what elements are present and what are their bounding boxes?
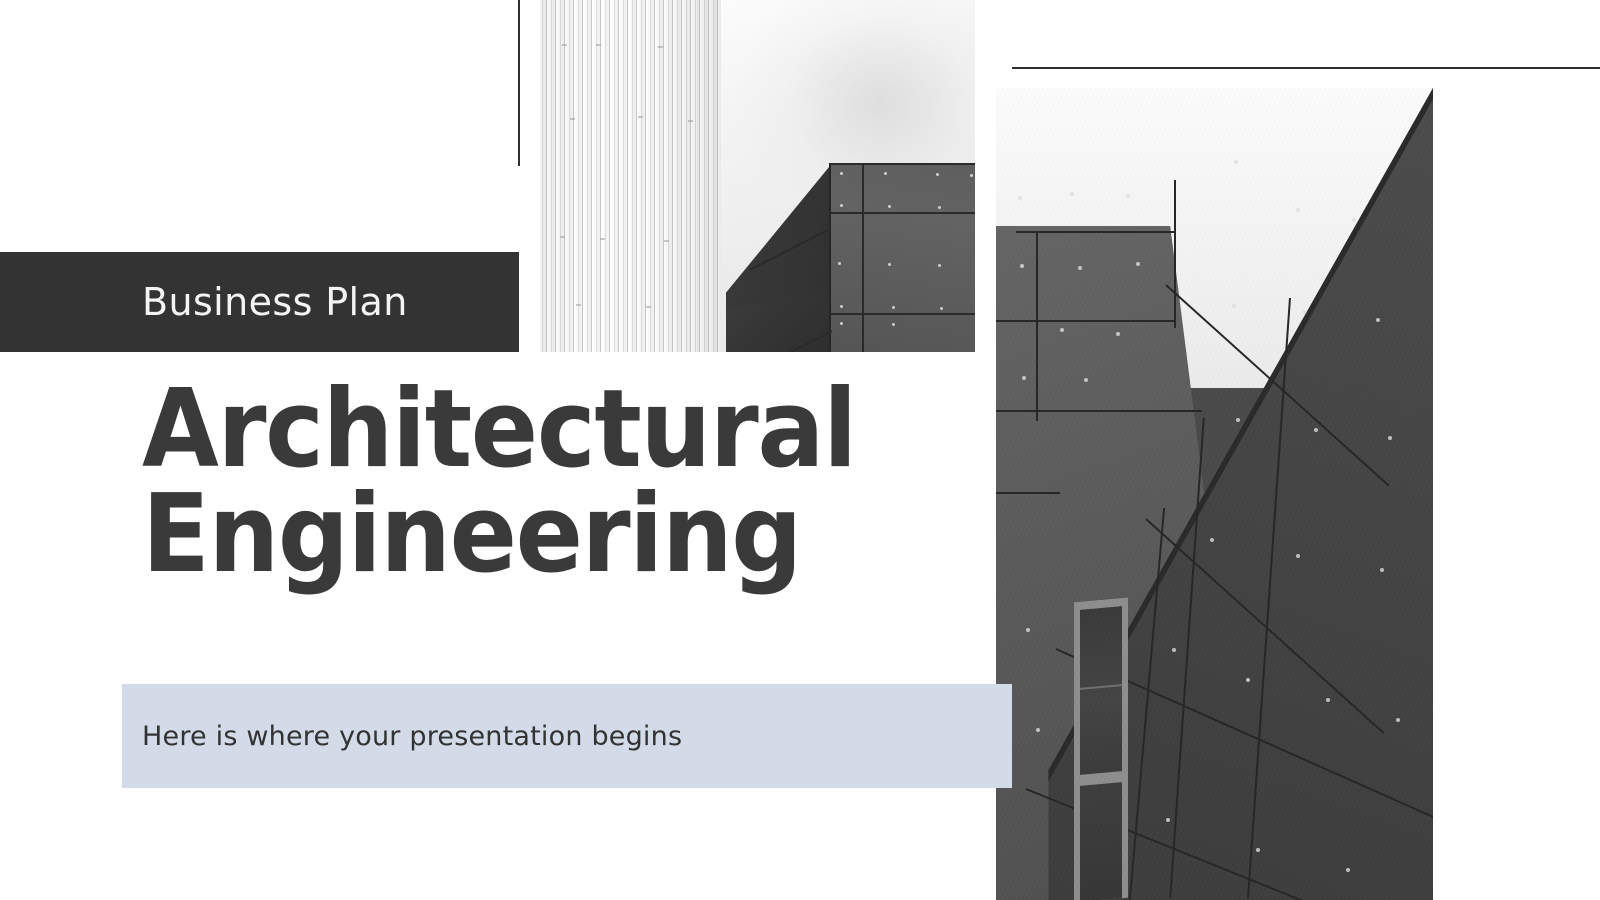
photo-rivet xyxy=(1388,436,1392,440)
photo-rivet xyxy=(1022,376,1026,380)
photo-rivet xyxy=(1232,304,1236,308)
photo-rivet xyxy=(840,204,843,207)
photo-rivet xyxy=(1060,328,1064,332)
photo-rivet xyxy=(1346,868,1350,872)
photo-rivet xyxy=(1116,332,1120,336)
page-title: Architectural Engineering xyxy=(142,378,906,588)
photo-panel-seam xyxy=(996,410,1202,412)
photo-rivet xyxy=(970,174,973,177)
photo-panel-seam xyxy=(996,320,1176,322)
photo-rivet xyxy=(1376,318,1380,322)
photo-rivet xyxy=(1172,648,1176,652)
subtitle-bar: Here is where your presentation begins xyxy=(122,684,1012,788)
photo-rivet xyxy=(938,206,941,209)
horizontal-rule xyxy=(1012,67,1600,69)
photo-rivet xyxy=(892,306,895,309)
photo-panel-seam xyxy=(1016,231,1176,233)
photo-rivet xyxy=(1256,848,1260,852)
photo-rivet xyxy=(1314,428,1318,432)
photo-rivet xyxy=(840,305,843,308)
architecture-photo-slatted-facade xyxy=(540,0,975,352)
photo-slat-mark xyxy=(560,236,565,238)
photo-rivet xyxy=(1026,628,1030,632)
vertical-rule xyxy=(518,0,520,166)
photo-panel-seam xyxy=(1036,231,1038,421)
photo-rivet xyxy=(1078,266,1082,270)
subtitle-text: Here is where your presentation begins xyxy=(142,721,682,752)
photo-rivet xyxy=(840,172,843,175)
eyebrow-label: Business Plan xyxy=(142,280,408,324)
photo-slat-mark xyxy=(658,46,663,48)
photo-rivet xyxy=(1296,554,1300,558)
photo-rivet xyxy=(884,172,887,175)
photo-panel-seam xyxy=(996,492,1060,494)
photo-rivet xyxy=(840,322,843,325)
photo-rivet xyxy=(936,173,939,176)
photo-rivet xyxy=(1380,568,1384,572)
photo-rivet xyxy=(1396,718,1400,722)
photo-rivet xyxy=(1246,678,1250,682)
photo-rivet xyxy=(888,263,891,266)
photo-slat-mark xyxy=(664,240,669,242)
photo-rivet xyxy=(1352,218,1356,222)
photo-slat-mark xyxy=(638,116,643,118)
photo-rivet xyxy=(1136,262,1140,266)
presentation-slide: Business Plan Architectural Engineering … xyxy=(0,0,1600,900)
photo-rivet xyxy=(938,264,941,267)
photo-panel-seam xyxy=(830,212,975,214)
photo-rivet xyxy=(838,262,841,265)
photo-rivet xyxy=(1326,698,1330,702)
photo-rivet xyxy=(1018,196,1022,200)
photo-slat-mark xyxy=(688,120,693,122)
photo-cloud xyxy=(730,0,975,190)
photo-rivet xyxy=(1070,192,1074,196)
photo-slat-mark xyxy=(596,44,601,46)
photo-rivet xyxy=(1236,418,1240,422)
photo-block-top-edge xyxy=(830,163,975,165)
photo-rivet xyxy=(1234,160,1238,164)
eyebrow-bar: Business Plan xyxy=(0,252,519,352)
photo-block-right-face xyxy=(830,163,975,352)
photo-rivet xyxy=(892,323,895,326)
architecture-photo-concrete-facade xyxy=(996,88,1433,900)
photo-rivet xyxy=(1036,728,1040,732)
photo-slat-mark xyxy=(570,118,575,120)
photo-window-glass-upper xyxy=(1080,606,1122,775)
photo-slat-mark xyxy=(646,306,651,308)
photo-slat-mark xyxy=(562,44,567,46)
photo-rivet xyxy=(1210,538,1214,542)
photo-rivet xyxy=(1084,378,1088,382)
photo-rivet xyxy=(888,205,891,208)
photo-rivet xyxy=(1302,310,1306,314)
photo-panel-seam xyxy=(830,313,975,315)
photo-panel-seam xyxy=(862,163,864,352)
photo-slat-mark xyxy=(576,304,581,306)
photo-rivet xyxy=(1020,264,1024,268)
photo-rivet xyxy=(1166,818,1170,822)
photo-rivet xyxy=(1126,194,1130,198)
photo-slat-mark xyxy=(600,238,605,240)
photo-panel-seam xyxy=(1174,180,1176,328)
photo-slat-shading xyxy=(540,0,721,352)
photo-block-corner-seam xyxy=(829,163,831,352)
photo-window-glass-lower xyxy=(1080,782,1122,900)
photo-rivet xyxy=(1296,208,1300,212)
photo-rivet xyxy=(940,307,943,310)
